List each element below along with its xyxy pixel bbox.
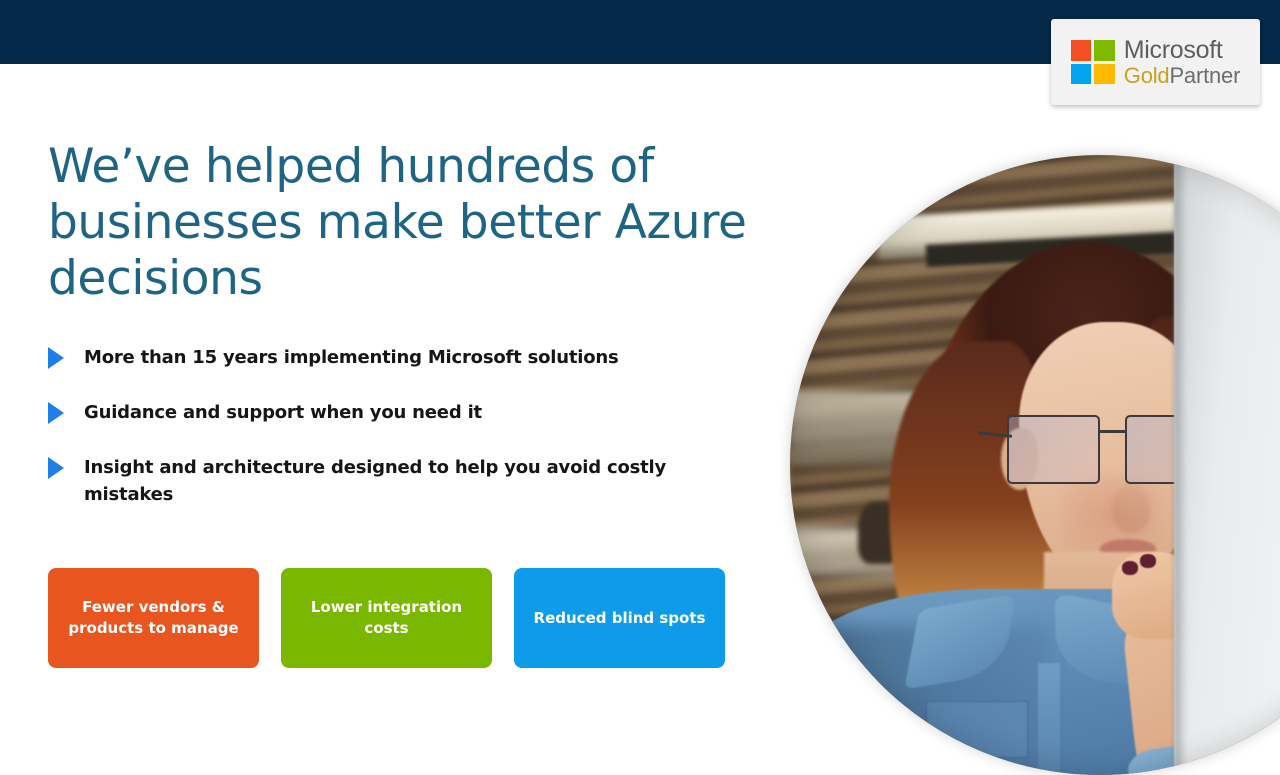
photo-scene — [790, 155, 1280, 775]
hero-photo — [790, 155, 1280, 775]
benefit-bullet-list: More than 15 years implementing Microsof… — [48, 344, 738, 536]
triangle-right-icon — [48, 399, 70, 425]
value-card-lower-integration-costs[interactable]: Lower integration costs — [281, 568, 492, 668]
list-item: Insight and architecture designed to hel… — [48, 454, 738, 508]
microsoft-gold-partner-badge[interactable]: Microsoft GoldPartner — [1051, 19, 1260, 105]
value-card-fewer-vendors[interactable]: Fewer vendors & products to manage — [48, 568, 259, 668]
triangle-right-icon — [48, 454, 70, 480]
triangle-right-icon — [48, 344, 70, 370]
computer-monitor — [1174, 155, 1280, 775]
list-item: Guidance and support when you need it — [48, 399, 738, 426]
list-item: More than 15 years implementing Microsof… — [48, 344, 738, 371]
value-card-group: Fewer vendors & products to manage Lower… — [48, 568, 725, 668]
bullet-text: More than 15 years implementing Microsof… — [84, 344, 619, 371]
gold-word: Gold — [1124, 63, 1170, 88]
page-title: We’ve helped hundreds of businesses make… — [48, 139, 748, 307]
bullet-text: Guidance and support when you need it — [84, 399, 482, 426]
microsoft-four-squares-icon — [1071, 40, 1115, 84]
bullet-text: Insight and architecture designed to hel… — [84, 454, 738, 508]
microsoft-wordmark: Microsoft — [1124, 38, 1240, 63]
partner-word: Partner — [1169, 63, 1240, 88]
value-card-reduced-blind-spots[interactable]: Reduced blind spots — [514, 568, 725, 668]
